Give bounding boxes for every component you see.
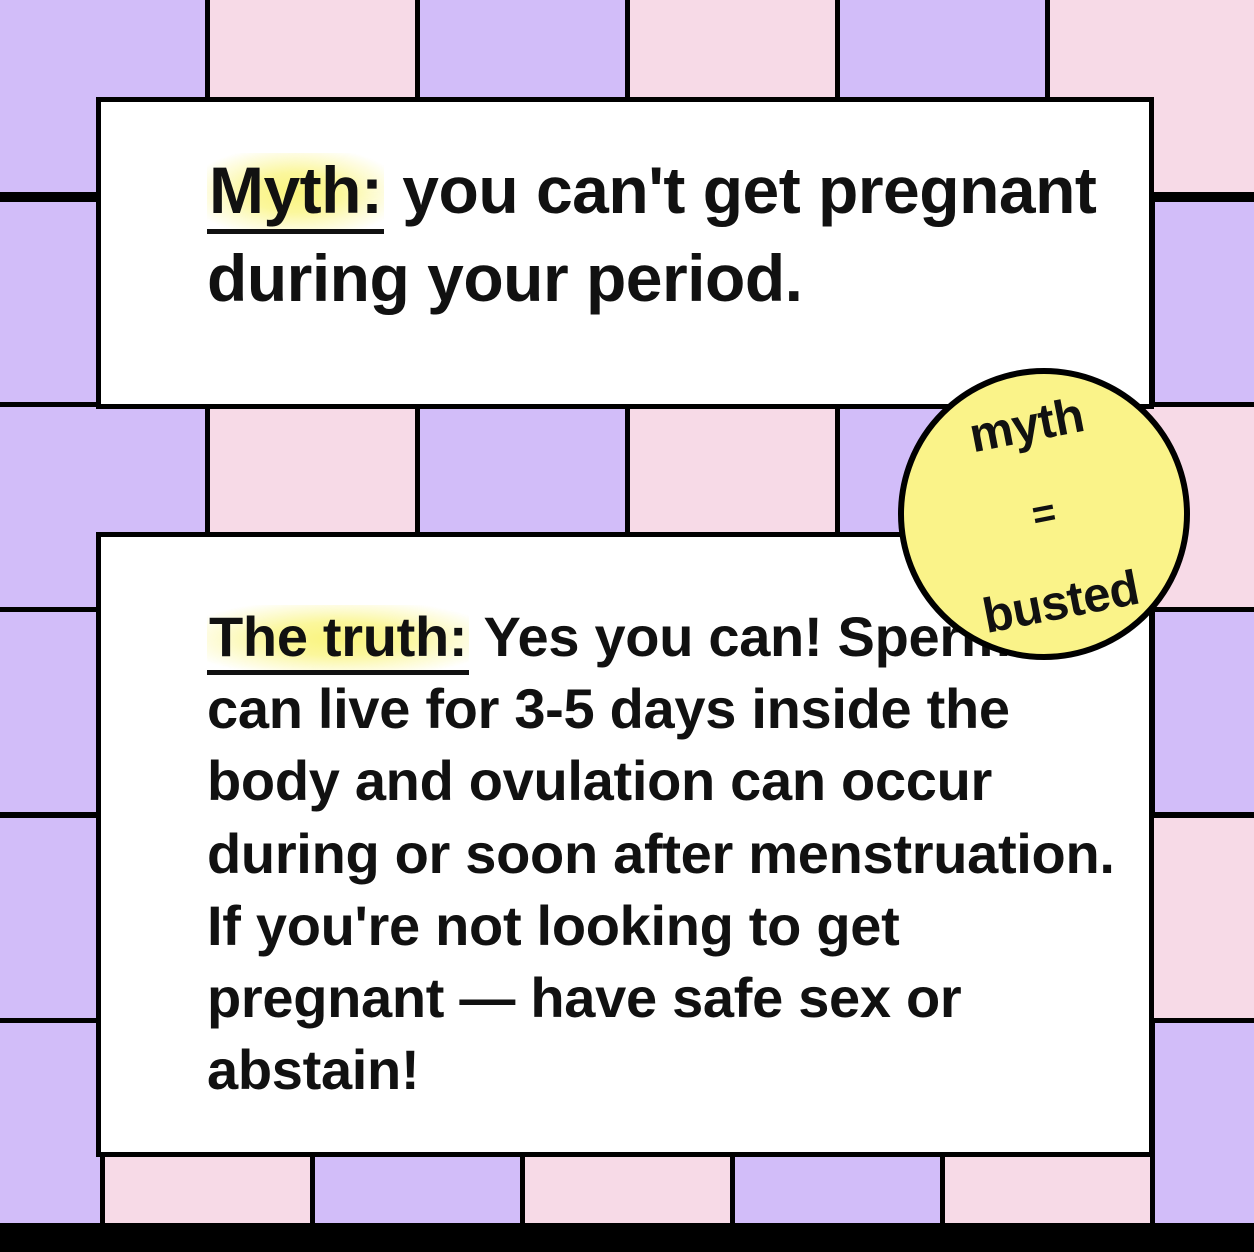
myth-label: Myth: xyxy=(207,153,384,234)
myth-busted-badge: myth = busted xyxy=(898,368,1190,660)
background-tile xyxy=(0,1023,100,1223)
myth-headline: Myth: you can't get pregnant during your… xyxy=(207,146,1109,323)
truth-label: The truth: xyxy=(207,605,469,675)
background-tile xyxy=(1155,612,1254,812)
truth-body: The truth: Yes you can! Sperm can live f… xyxy=(207,601,1119,1107)
badge-line-myth: myth xyxy=(945,387,1109,465)
background-tile xyxy=(1155,1023,1254,1223)
background-tile xyxy=(1155,202,1254,402)
background-tile xyxy=(0,612,100,812)
badge-text: myth = busted xyxy=(935,339,1152,690)
badge-equals-sign: = xyxy=(964,483,1125,545)
poster-canvas: Myth: you can't get pregnant during your… xyxy=(0,0,1254,1252)
truth-body-rest: Yes you can! Sperm can live for 3-5 days… xyxy=(207,605,1115,1101)
background-tile xyxy=(0,202,100,402)
badge-line-busted: busted xyxy=(979,563,1143,641)
